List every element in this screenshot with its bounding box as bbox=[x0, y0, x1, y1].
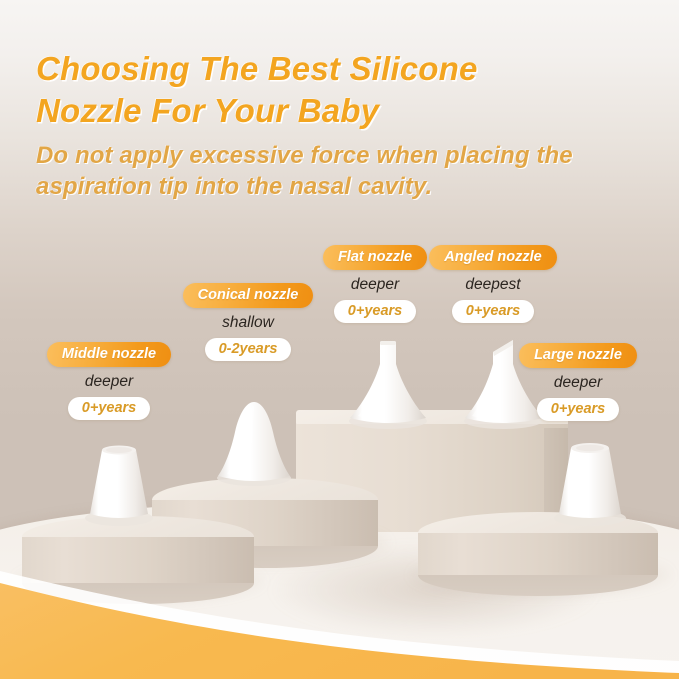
nozzle-age-pill-flat[interactable]: 0+years bbox=[334, 300, 416, 323]
title-line-1: Choosing The Best Silicone bbox=[36, 48, 636, 90]
nozzle-name-pill-large[interactable]: Large nozzle bbox=[519, 343, 637, 368]
nozzle-depth-middle: deeper bbox=[29, 373, 189, 391]
subtitle-line-1: Do not apply excessive force when placin… bbox=[36, 140, 636, 171]
nozzle-depth-angled: deepest bbox=[413, 276, 573, 294]
subtitle-line-2: aspiration tip into the nasal cavity. bbox=[36, 171, 636, 202]
nozzle-age-pill-angled[interactable]: 0+years bbox=[452, 300, 534, 323]
headline-block: Choosing The Best Silicone Nozzle For Yo… bbox=[36, 48, 636, 203]
label-group-middle: Middle nozzle deeper 0+years bbox=[29, 342, 189, 420]
subtitle-block: Do not apply excessive force when placin… bbox=[36, 140, 636, 202]
nozzle-age-pill-middle[interactable]: 0+years bbox=[68, 397, 150, 420]
label-group-large: Large nozzle deeper 0+years bbox=[498, 343, 658, 421]
nozzle-age-pill-conical[interactable]: 0-2years bbox=[205, 338, 292, 361]
nozzle-name-pill-angled[interactable]: Angled nozzle bbox=[429, 245, 556, 270]
nozzle-name-pill-middle[interactable]: Middle nozzle bbox=[47, 342, 171, 367]
orange-wave-decoration bbox=[0, 549, 679, 679]
nozzle-name-pill-flat[interactable]: Flat nozzle bbox=[323, 245, 427, 270]
nozzle-middle bbox=[74, 442, 164, 530]
label-group-angled: Angled nozzle deepest 0+years bbox=[413, 245, 573, 323]
title-line-2: Nozzle For Your Baby bbox=[36, 90, 636, 132]
infographic-canvas: Middle nozzle deeper 0+years Conical noz… bbox=[0, 0, 679, 679]
nozzle-conical bbox=[206, 398, 302, 488]
nozzle-large bbox=[543, 440, 637, 530]
nozzle-depth-large: deeper bbox=[498, 374, 658, 392]
nozzle-flat bbox=[340, 338, 436, 430]
nozzle-age-pill-large[interactable]: 0+years bbox=[537, 398, 619, 421]
nozzle-name-pill-conical[interactable]: Conical nozzle bbox=[183, 283, 314, 308]
